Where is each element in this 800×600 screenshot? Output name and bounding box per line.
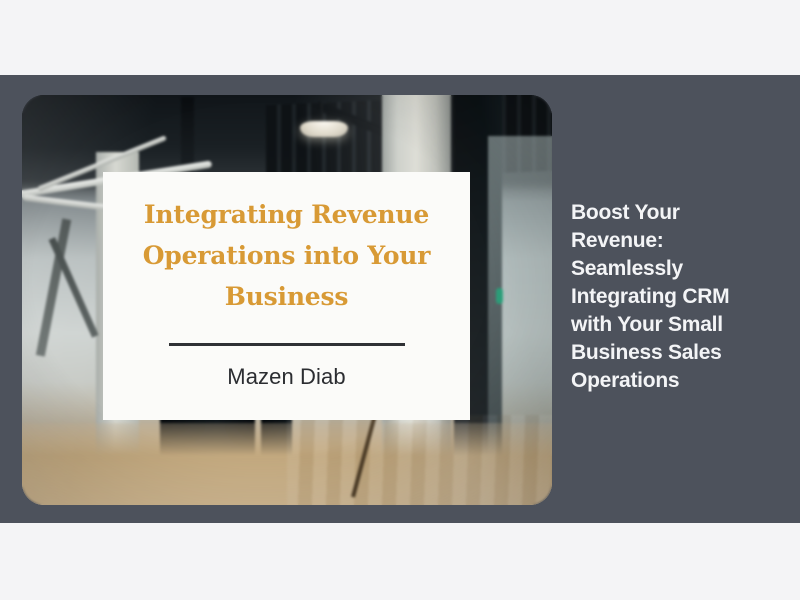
floor-plank-texture [287,415,552,505]
presentation-title: Integrating Revenue Operations into Your… [129,194,444,317]
presentation-author: Mazen Diab [227,364,345,390]
top-band [0,0,800,75]
title-divider [169,343,405,346]
pendant-lamp-icon [300,121,348,137]
pendant-lamp-cord [321,101,323,123]
article-headline[interactable]: Boost Your Revenue: Seamlessly Integrati… [571,199,771,395]
page-root: Integrating Revenue Operations into Your… [0,0,800,600]
article-image-card[interactable]: Integrating Revenue Operations into Your… [22,95,552,505]
presentation-title-card: Integrating Revenue Operations into Your… [103,172,470,420]
content-panel: Integrating Revenue Operations into Your… [0,75,800,523]
green-accent-object [496,288,503,304]
bottom-band [0,523,800,600]
